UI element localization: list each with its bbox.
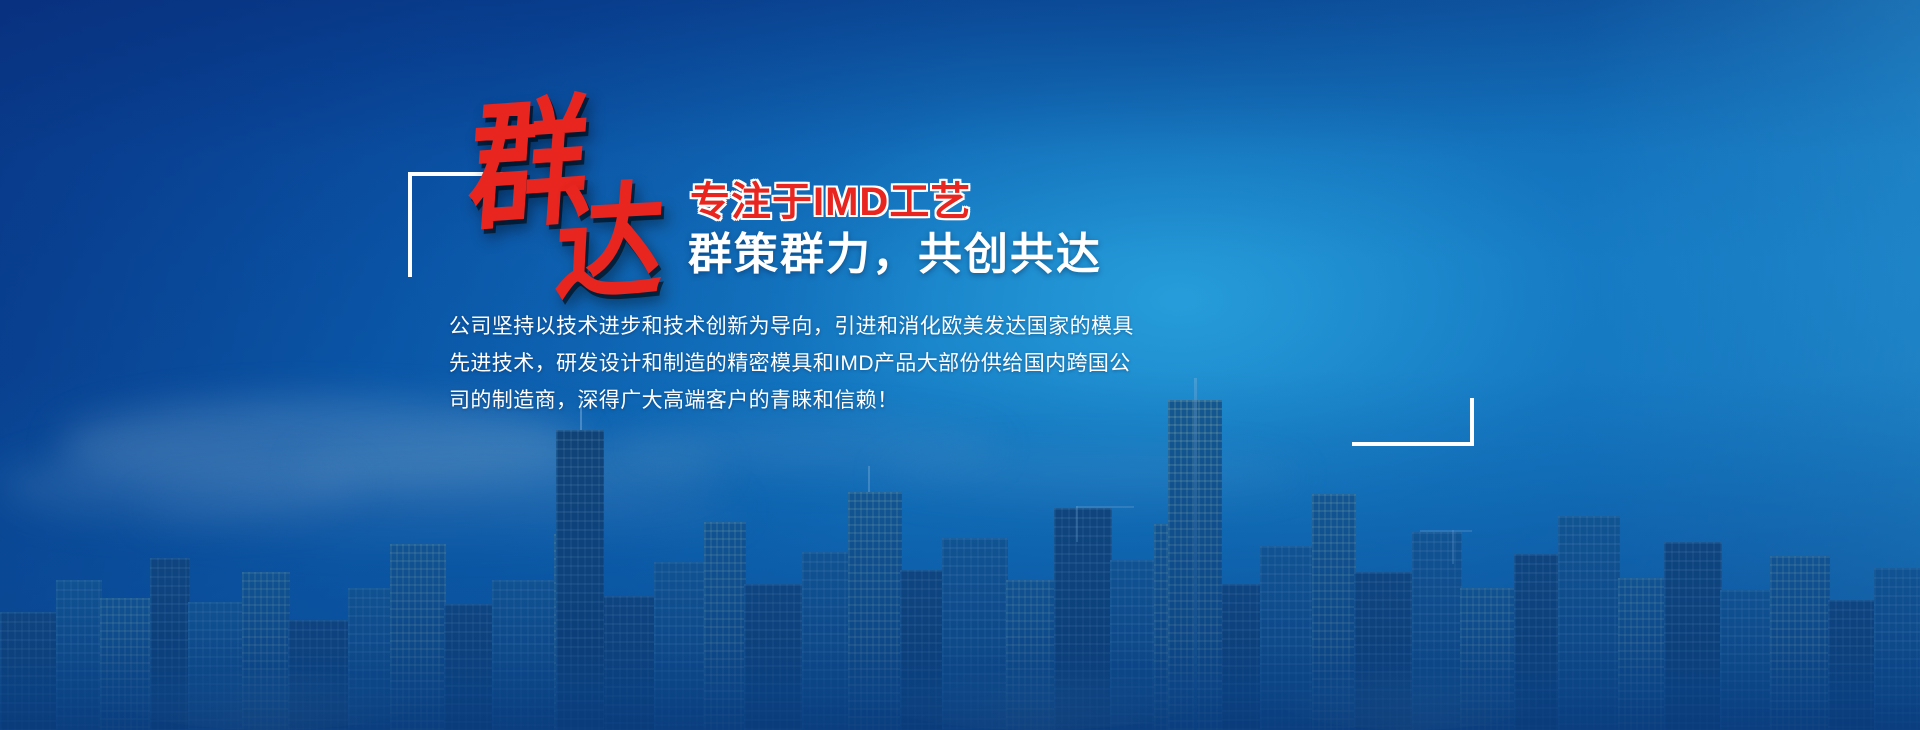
bracket-horizontal-rule [1352,442,1474,446]
brand-logo-character-da: 达 [552,179,661,309]
banner-description-paragraph: 公司坚持以技术进步和技术创新为导向，引进和消化欧美发达国家的模具 先进技术，研发… [449,308,1149,419]
banner-content: 群 达 专注于IMD工艺 群策群力，共创共达 公司坚持以技术进步和技术创新为导向… [0,0,1920,730]
hero-banner: 群 达 专注于IMD工艺 群策群力，共创共达 公司坚持以技术进步和技术创新为导向… [0,0,1920,730]
paragraph-line: 司的制造商，深得广大高端客户的青睐和信赖！ [449,382,1149,419]
bracket-vertical-rule [408,172,412,277]
banner-headline: 专注于IMD工艺 [690,180,971,224]
banner-slogan: 群策群力，共创共达 [688,230,1102,281]
corner-bracket-bottom-right-icon [1352,398,1474,446]
paragraph-line: 公司坚持以技术进步和技术创新为导向，引进和消化欧美发达国家的模具 [449,308,1149,345]
paragraph-line: 先进技术，研发设计和制造的精密模具和IMD产品大部份供给国内跨国公 [449,345,1149,382]
bracket-vertical-rule [1470,398,1474,446]
